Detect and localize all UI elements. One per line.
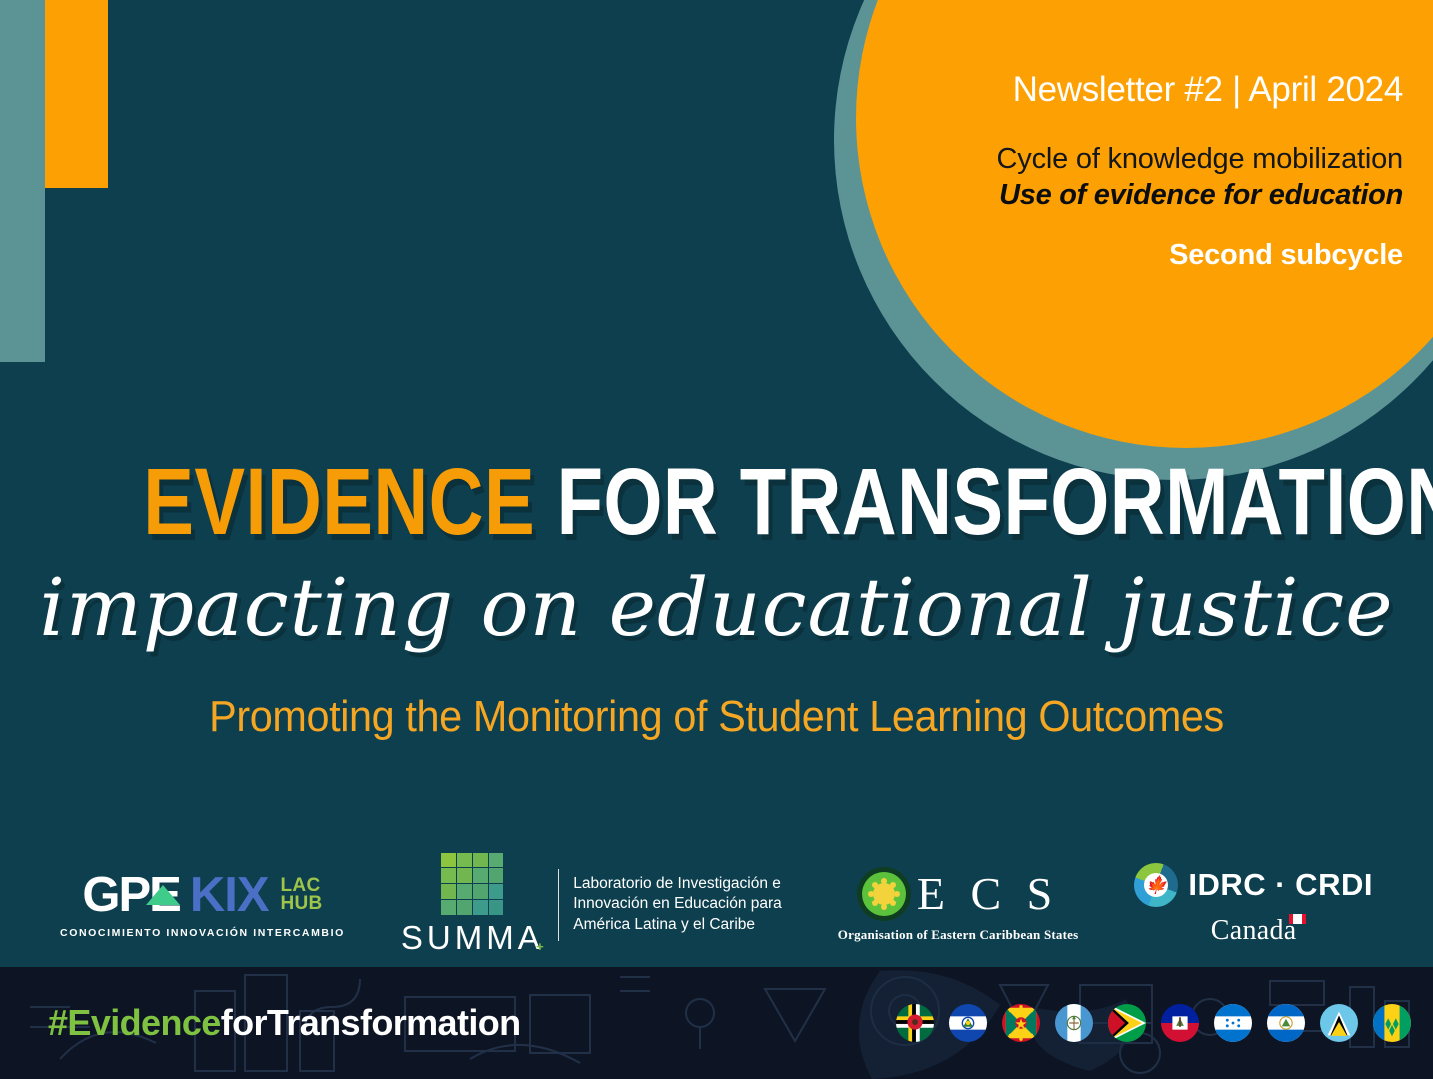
footer-strip: #EvidenceforTransformation — [0, 967, 1433, 1079]
page-title: EVIDENCE FOR TRANSFORMATION: — [143, 455, 1289, 550]
newsletter-cover: Newsletter #2 | April 2024 Cycle of know… — [0, 0, 1433, 1079]
hub-text: HUB — [281, 893, 323, 914]
hashtag-green: #Evidence — [48, 1002, 221, 1043]
gpe-logo-top: GPE KIX LAC HUB — [82, 871, 322, 920]
summa-description: Laboratorio de Investigación e Innovació… — [573, 874, 782, 935]
gpe-tagline: CONOCIMIENTO INNOVACIÓN INTERCAMBIO — [60, 927, 345, 939]
header-block: Newsletter #2 | April 2024 Cycle of know… — [763, 70, 1403, 272]
decor-teal-bar — [0, 0, 45, 362]
logo-idrc-crdi: 🍁 IDRC · CRDI Canada — [1134, 863, 1373, 947]
summa-word-text: SUMMA — [401, 919, 544, 956]
lac-hub-wordmark: LAC HUB — [281, 877, 323, 913]
summa-wordmark: SUMMA + — [401, 919, 544, 957]
partner-logos: GPE KIX LAC HUB CONOCIMIENTO INNOVACIÓN … — [0, 852, 1433, 957]
title-highlight: EVIDENCE — [143, 449, 535, 555]
flag-dominica-icon — [896, 1004, 934, 1042]
flag-nicaragua-icon — [1267, 1004, 1305, 1042]
flag-guatemala-icon — [1055, 1004, 1093, 1042]
title-rest: FOR TRANSFORMATION: — [557, 449, 1433, 555]
page-subtitle: Promoting the Monitoring of Student Lear… — [43, 692, 1390, 742]
idrc-globe-icon: 🍁 — [1134, 863, 1178, 907]
oecs-sun-icon — [857, 867, 911, 921]
flag-grenada-icon — [1002, 1004, 1040, 1042]
title-script: impacting on educational justice — [0, 566, 1433, 650]
hashtag-white: forTransformation — [221, 1002, 521, 1043]
flag-saint-vincent-grenadines-icon — [1373, 1004, 1411, 1042]
summa-desc-line2: Innovación en Educación para — [573, 894, 782, 914]
title-block: EVIDENCE FOR TRANSFORMATION: impacting o… — [0, 455, 1433, 742]
canada-flag-icon — [1289, 914, 1306, 924]
oecs-sun-center — [873, 883, 895, 905]
flag-el-salvador-icon — [949, 1004, 987, 1042]
idrc-wordmark: IDRC · CRDI — [1188, 869, 1373, 900]
gpe-arrow-icon — [146, 885, 180, 905]
summa-desc-line1: Laboratorio de Investigación e — [573, 874, 782, 894]
country-flags — [896, 1004, 1411, 1042]
summa-plus-icon: + — [536, 939, 548, 954]
summa-cube-icon — [441, 853, 503, 915]
canada-text: Canada — [1211, 915, 1297, 946]
kix-wordmark: KIX — [190, 871, 269, 920]
canada-wordmark: Canada — [1211, 915, 1297, 947]
gpe-wordmark: GPE — [82, 871, 179, 920]
logo-summa: SUMMA + Laboratorio de Investigación e I… — [401, 853, 782, 957]
cycle-label: Cycle of knowledge mobilization — [763, 142, 1403, 177]
flag-honduras-icon — [1214, 1004, 1252, 1042]
flag-haiti-icon — [1161, 1004, 1199, 1042]
logo-gpe-kix-lac-hub: GPE KIX LAC HUB CONOCIMIENTO INNOVACIÓN … — [60, 871, 345, 939]
ecs-wordmark: E C S — [917, 871, 1059, 917]
hashtag-evidence-for-transformation: #EvidenceforTransformation — [48, 1002, 521, 1044]
flag-guyana-icon — [1108, 1004, 1146, 1042]
decor-orange-bar — [45, 0, 108, 188]
oecs-tagline: Organisation of Eastern Caribbean States — [838, 927, 1079, 943]
summa-desc-line3: América Latina y el Caribe — [573, 915, 782, 935]
idrc-logo-top: 🍁 IDRC · CRDI — [1134, 863, 1373, 907]
ecs-logo-top: E C S — [857, 867, 1059, 921]
summa-mark-block: SUMMA + — [401, 853, 544, 957]
maple-leaf-icon: 🍁 — [1146, 876, 1167, 893]
subcycle-label: Second subcycle — [763, 239, 1403, 272]
summa-divider — [558, 869, 560, 941]
flag-saint-lucia-icon — [1320, 1004, 1358, 1042]
logo-oecs: E C S Organisation of Eastern Caribbean … — [838, 867, 1079, 943]
cycle-sublabel: Use of evidence for education — [763, 177, 1403, 213]
newsletter-issue: Newsletter #2 | April 2024 — [763, 70, 1403, 110]
